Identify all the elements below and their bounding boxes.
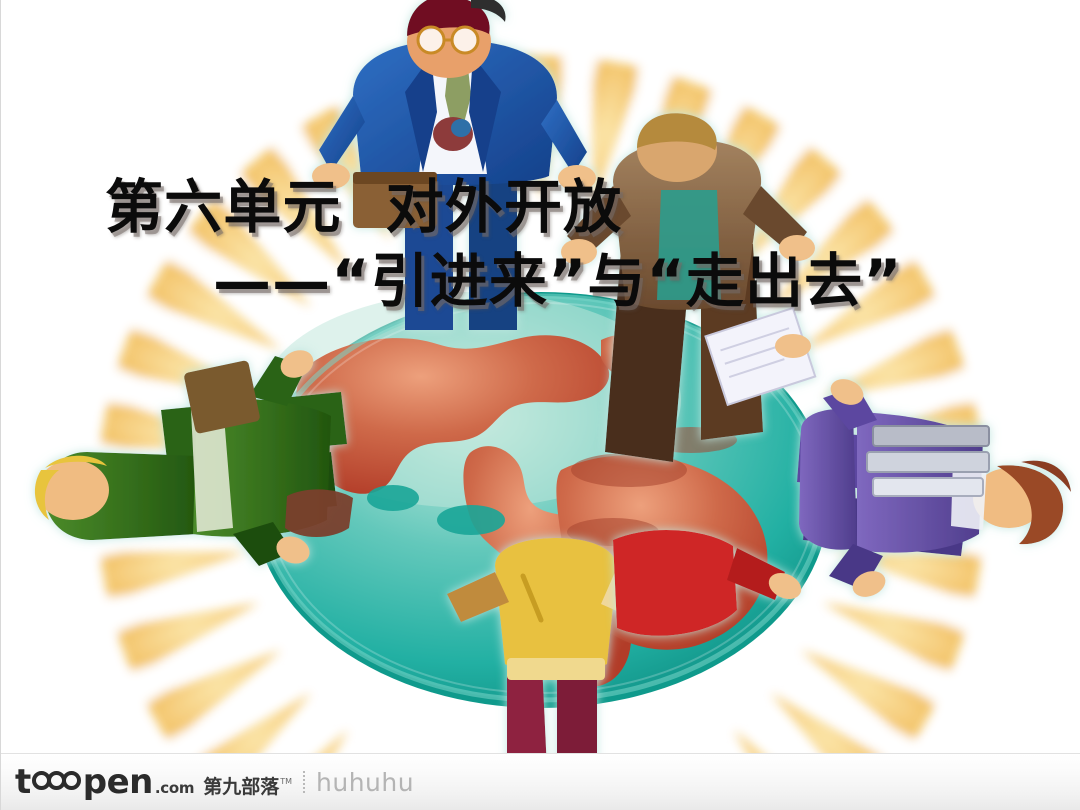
logo-text-pen: pen — [83, 765, 153, 799]
logo-chinese-name: 第九部落 — [203, 772, 279, 799]
globe-illustration — [1, 0, 1080, 810]
tooopen-logo: t pen .com 第九部落 TM — [15, 765, 292, 799]
presentation-slide: 第六单元对外开放 ——“引进来”与“走出去” t pen .com 第九部落 T… — [0, 0, 1080, 810]
logo-domain-suffix: .com — [155, 779, 194, 797]
logo-rings-icon — [32, 771, 81, 790]
logo-letter-t: t — [15, 765, 31, 799]
watermark-bar: t pen .com 第九部落 TM huhuhu — [1, 753, 1080, 810]
trademark-mark: TM — [280, 777, 292, 786]
separator-dots-icon — [303, 771, 305, 793]
watermark-username: huhuhu — [316, 768, 414, 797]
figure-left-lower-accent — [285, 489, 353, 537]
